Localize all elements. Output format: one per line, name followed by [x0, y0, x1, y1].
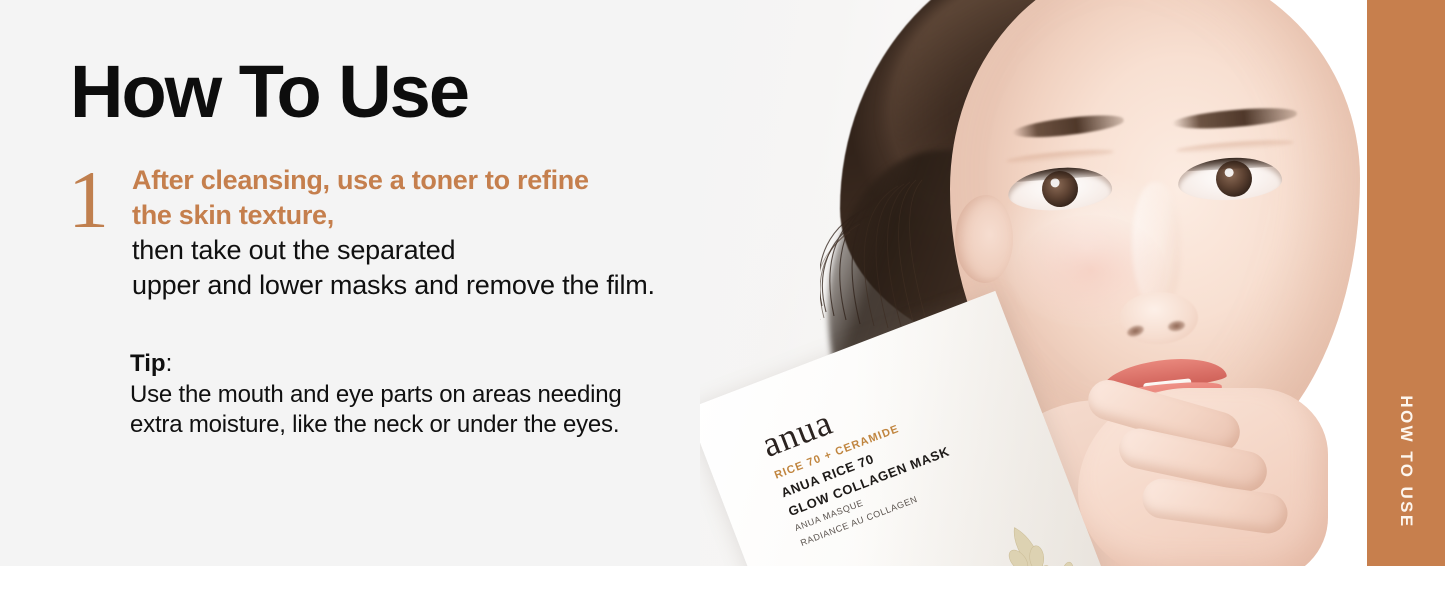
ear [955, 195, 1013, 283]
rail-label: HOW TO USE [1396, 395, 1416, 528]
tip-label: Tip [130, 350, 166, 377]
step-plain-line-2: upper and lower masks and remove the fil… [132, 268, 748, 303]
model-photo: anua RICE 70 + CERAMIDE ANUA RICE 70 GLO… [700, 0, 1367, 566]
tip-block: Tip: Use the mouth and eye parts on area… [130, 348, 750, 440]
how-to-use-banner: How To Use 1 After cleansing, use a tone… [0, 0, 1445, 592]
tip-line-2: extra moisture, like the neck or under t… [130, 410, 750, 440]
page-title: How To Use [70, 55, 468, 129]
step-number: 1 [68, 159, 109, 241]
step-body: After cleansing, use a toner to refine t… [132, 163, 748, 303]
tip-colon: : [166, 350, 173, 377]
nose-bridge [1132, 182, 1180, 310]
step-accent-line-2: the skin texture, [132, 198, 748, 233]
step-accent-line-1: After cleansing, use a toner to refine [132, 163, 748, 198]
section-rail: HOW TO USE [1367, 0, 1445, 566]
content-panel: How To Use 1 After cleansing, use a tone… [0, 0, 1367, 566]
step-plain-line-1: then take out the separated [132, 233, 748, 268]
step-block: 1 After cleansing, use a toner to refine… [68, 163, 748, 303]
tip-line-1: Use the mouth and eye parts on areas nee… [130, 380, 750, 410]
tip-heading: Tip: [130, 348, 750, 380]
